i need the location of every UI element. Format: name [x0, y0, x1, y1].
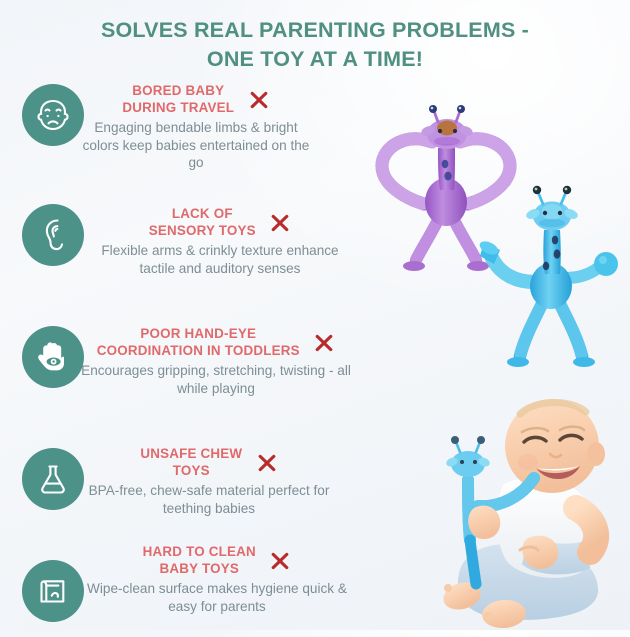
- feature-text: BORED BABY DURING TRAVEL Engaging bendab…: [78, 83, 314, 172]
- problem-title-line-2: BABY TOYS: [160, 561, 239, 576]
- problem-title-row: HARD TO CLEAN BABY TOYS: [72, 544, 362, 577]
- blue-giraffe-toy-image: [470, 178, 630, 373]
- problem-title-row: BORED BABY DURING TRAVEL: [78, 83, 314, 116]
- x-mark-icon: [248, 89, 270, 111]
- x-mark-icon: [269, 550, 291, 572]
- ear-icon: [22, 204, 84, 266]
- x-mark-icon: [269, 212, 291, 234]
- benefit-text: Engaging bendable limbs & bright colors …: [78, 119, 314, 172]
- problem-title-line-1: LACK OF: [172, 206, 233, 221]
- problem-title-line-1: HARD TO CLEAN: [143, 544, 256, 559]
- flask-icon: [22, 448, 84, 510]
- problem-title-line-1: UNSAFE CHEW: [140, 446, 242, 461]
- feature-text: LACK OF SENSORY TOYS Flexible arms & cri…: [86, 206, 354, 277]
- problem-title-line-1: BORED BABY: [132, 83, 224, 98]
- problem-title-row: POOR HAND-EYE COORDINATION IN TODDLERS: [66, 326, 366, 359]
- problem-title: LACK OF SENSORY TOYS: [149, 206, 256, 239]
- sad-baby-face-icon: [22, 84, 84, 146]
- infographic-canvas: SOLVES REAL PARENTING PROBLEMS - ONE TOY…: [0, 0, 630, 630]
- benefit-text: Encourages gripping, stretching, twistin…: [66, 362, 366, 397]
- headline-line-2: ONE TOY AT A TIME!: [0, 45, 630, 74]
- feature-text: HARD TO CLEAN BABY TOYS Wipe-clean surfa…: [72, 544, 362, 615]
- problem-title-row: UNSAFE CHEW TOYS: [78, 446, 340, 479]
- baby-with-toy-photo: [400, 388, 630, 632]
- problem-title: POOR HAND-EYE COORDINATION IN TODDLERS: [97, 326, 300, 359]
- x-mark-icon: [313, 332, 335, 354]
- problem-title-line-2: COORDINATION IN TODDLERS: [97, 343, 300, 358]
- purple-giraffe-toy-image: [368, 98, 528, 278]
- benefit-text: Wipe-clean surface makes hygiene quick &…: [72, 580, 362, 615]
- problem-title: BORED BABY DURING TRAVEL: [122, 83, 234, 116]
- problem-title-row: LACK OF SENSORY TOYS: [86, 206, 354, 239]
- benefit-text: Flexible arms & crinkly texture enhance …: [86, 242, 354, 277]
- problem-title: UNSAFE CHEW TOYS: [140, 446, 242, 479]
- benefit-text: BPA-free, chew-safe material perfect for…: [78, 482, 340, 517]
- feature-text: UNSAFE CHEW TOYS BPA-free, chew-safe mat…: [78, 446, 340, 517]
- problem-title-line-1: POOR HAND-EYE: [140, 326, 256, 341]
- feature-text: POOR HAND-EYE COORDINATION IN TODDLERS E…: [66, 326, 366, 397]
- x-mark-icon: [256, 452, 278, 474]
- headline-line-1: SOLVES REAL PARENTING PROBLEMS -: [101, 18, 529, 42]
- problem-title: HARD TO CLEAN BABY TOYS: [143, 544, 256, 577]
- page-title: SOLVES REAL PARENTING PROBLEMS - ONE TOY…: [0, 16, 630, 74]
- problem-title-line-2: SENSORY TOYS: [149, 223, 256, 238]
- problem-title-line-2: DURING TRAVEL: [122, 100, 234, 115]
- problem-title-line-2: TOYS: [173, 463, 210, 478]
